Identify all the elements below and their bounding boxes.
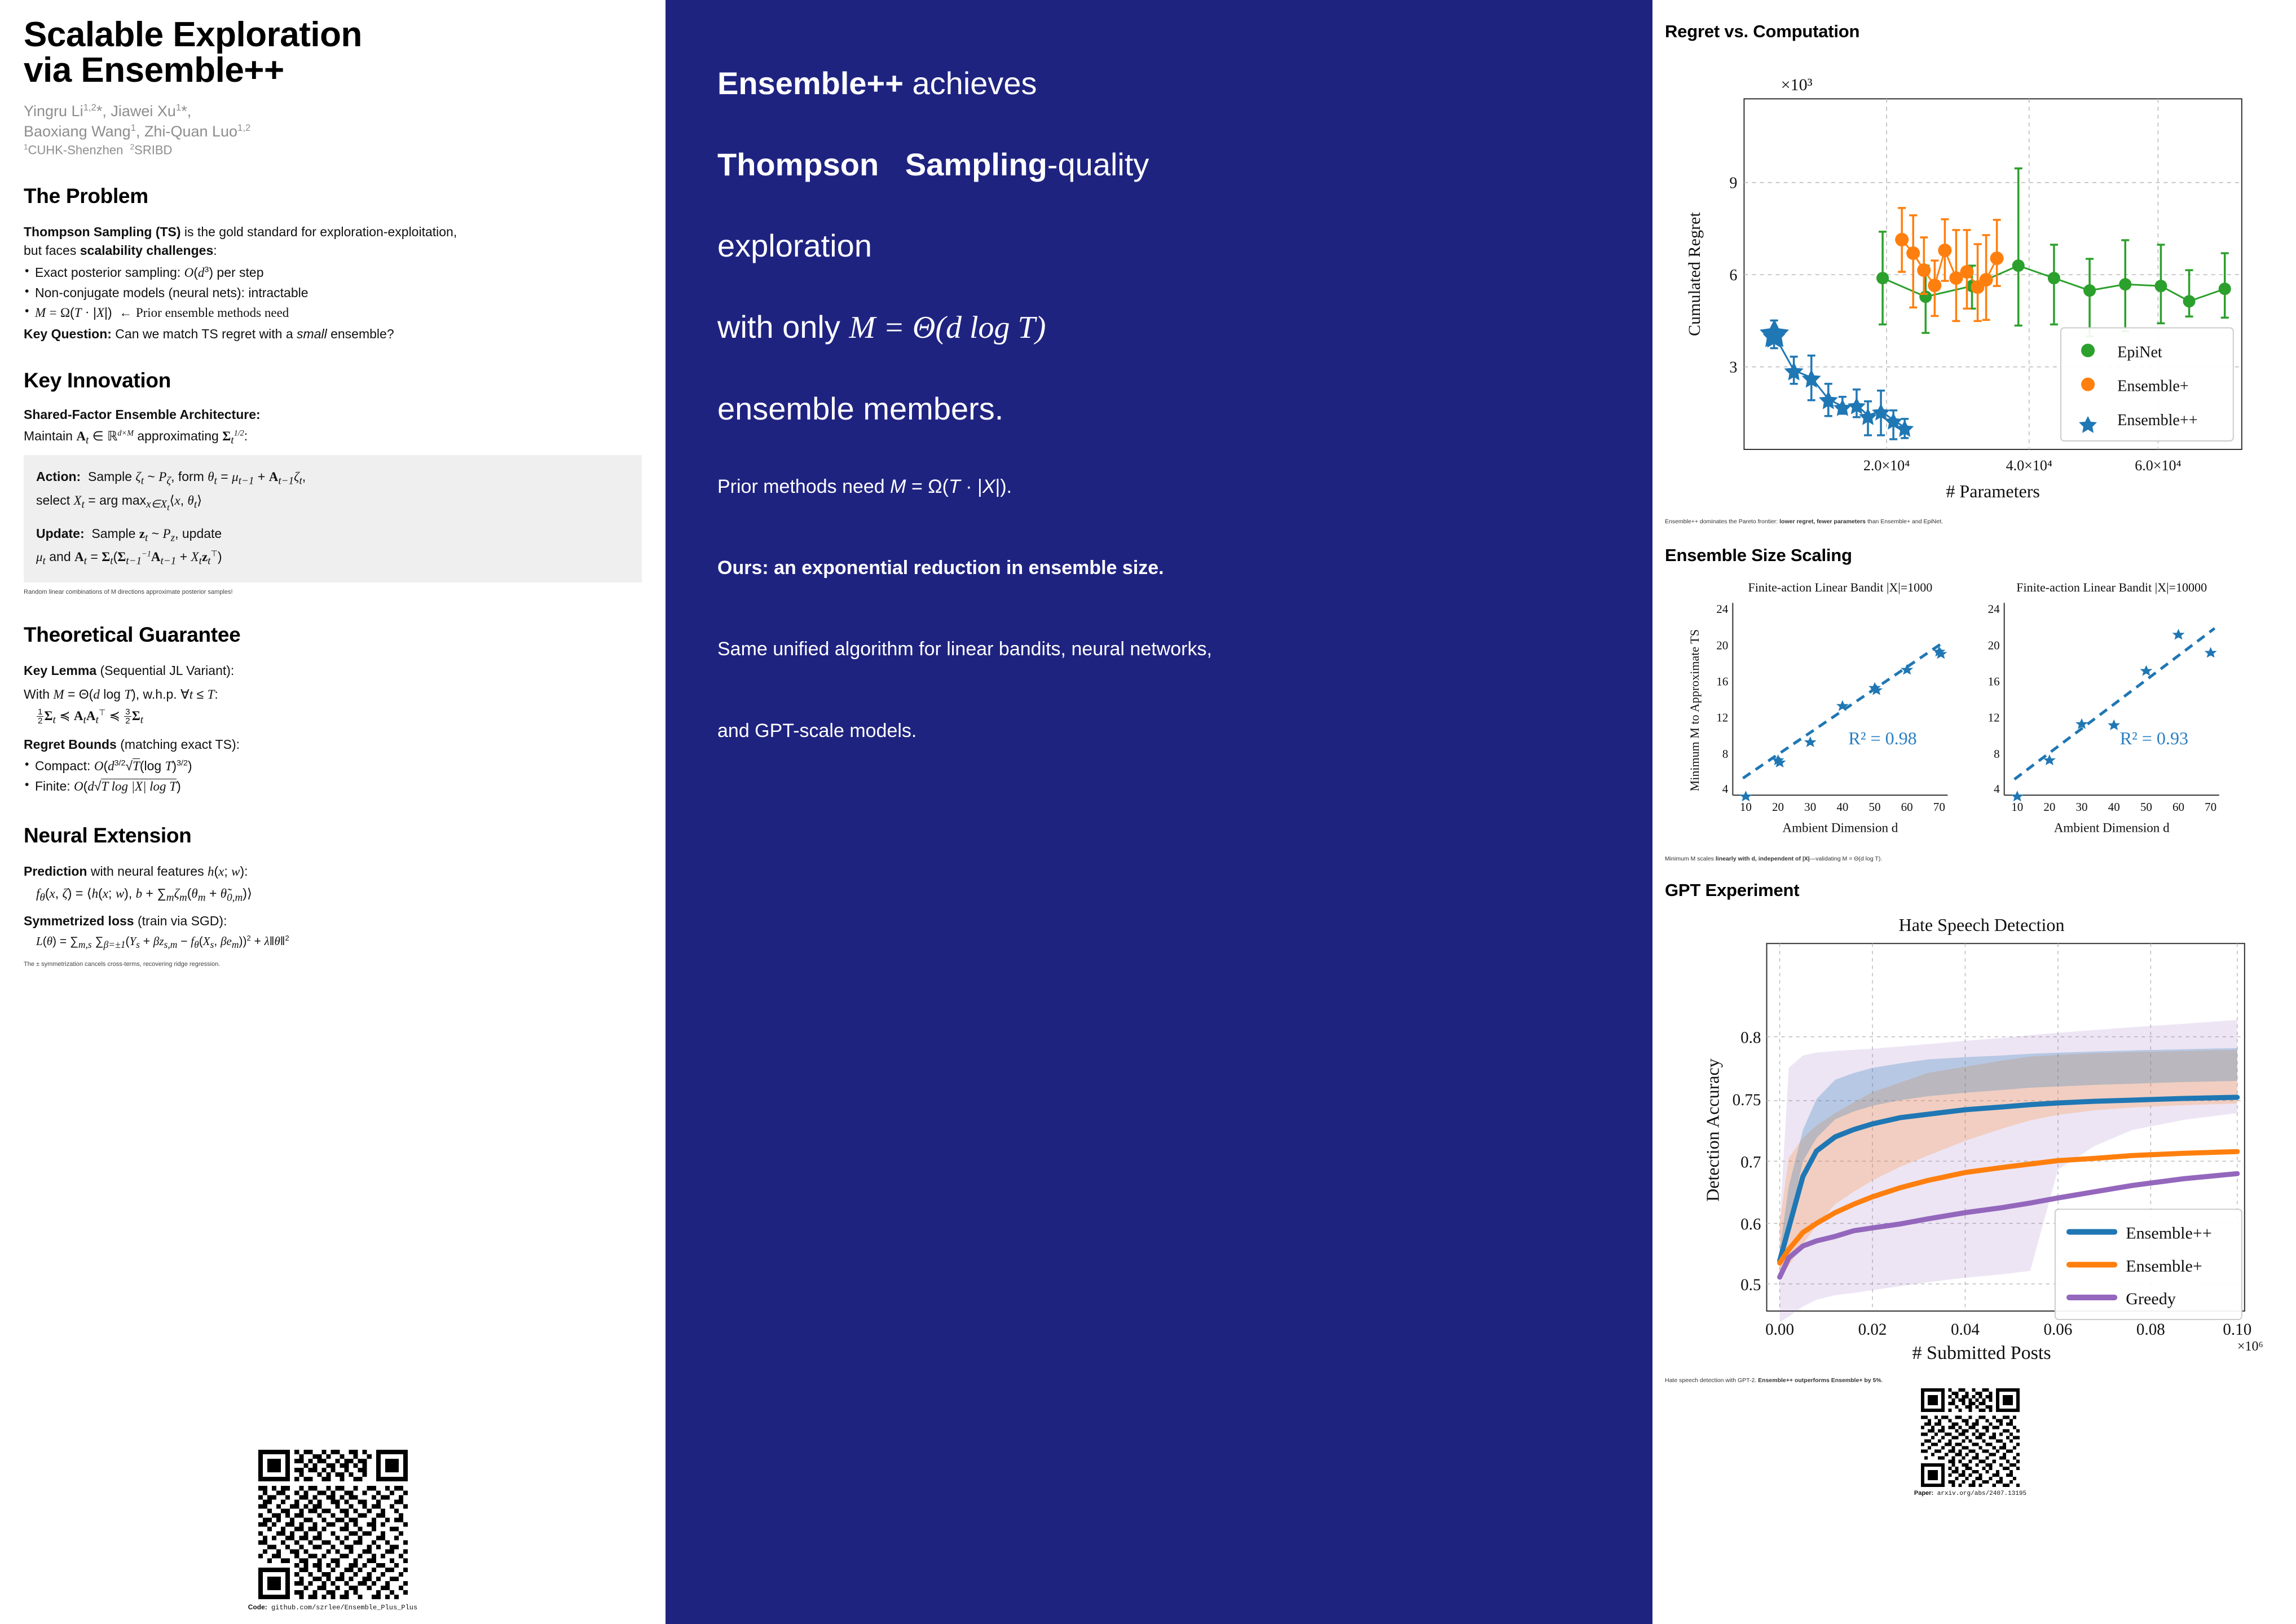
- cap-pre: Minimum M scales: [1665, 855, 1716, 862]
- hero-statement: Ensemble++ achieves Thompson Sampling-qu…: [717, 68, 1601, 425]
- hero-line-2: Thompson Sampling-quality: [717, 149, 1601, 180]
- svg-text:0.10: 0.10: [2223, 1321, 2251, 1339]
- scaling-left-r2: R² = 0.98: [1848, 728, 1916, 748]
- problem-intro-post2: :: [213, 243, 217, 258]
- poster-root: Scalable Exploration via Ensemble++ Ying…: [0, 0, 2296, 1624]
- svg-text:60: 60: [2172, 800, 2184, 814]
- authors-line-2: Baoxiang Wang1, Zhi-Quan Luo1,2: [24, 122, 642, 142]
- svg-text:0.5: 0.5: [1740, 1276, 1761, 1294]
- legend-ensemble-plus: Ensemble+: [2126, 1256, 2202, 1276]
- title-line-1: Scalable Exploration: [24, 17, 642, 52]
- svg-text:9: 9: [1729, 175, 1737, 192]
- prediction-equation: fθ(x, ζ) = ⟨h(x; w), b + ∑mζm(θm + θ̃0,m…: [24, 881, 642, 908]
- cap-bold: lower regret, fewer parameters: [1779, 518, 1866, 525]
- lemma-bold: Key Lemma: [24, 663, 96, 678]
- svg-text:12: 12: [1716, 711, 1728, 725]
- lemma-rest: (Sequential JL Variant):: [96, 663, 234, 678]
- scaling-caption: Minimum M scales linearly with d, indepe…: [1665, 855, 2276, 863]
- regret-rest: (matching exact TS):: [117, 737, 240, 752]
- legend-ensemble-plus: Ensemble+: [2117, 378, 2189, 395]
- key-lemma-label: Key Lemma (Sequential JL Variant):: [24, 661, 642, 680]
- section-heading-neural: Neural Extension: [24, 824, 642, 848]
- svg-text:4: 4: [1994, 782, 2000, 796]
- sub-line-2: Ours: an exponential reduction in ensemb…: [717, 555, 1601, 580]
- list-item: Compact: O(d3/2√T(log T)3/2): [24, 756, 642, 776]
- hero-line-1: Ensemble++ achieves: [717, 68, 1601, 99]
- regret-bullets: Compact: O(d3/2√T(log T)3/2) Finite: O(d…: [24, 756, 642, 797]
- svg-text:20: 20: [2043, 800, 2055, 814]
- svg-text:3: 3: [1729, 359, 1737, 377]
- paper-url: arxiv.org/abs/2407.13195: [1933, 1490, 2026, 1497]
- cap-bold: linearly with d, independent of |X|: [1716, 855, 1810, 862]
- key-question: Key Question: Can we match TS regret wit…: [24, 326, 642, 342]
- loss-rest: (train via SGD):: [134, 913, 227, 928]
- cap-post: .: [1881, 1377, 1883, 1384]
- svg-text:0.00: 0.00: [1765, 1321, 1794, 1339]
- svg-text:16: 16: [1716, 675, 1728, 689]
- algorithm-box: Action: Sample ζt ~ Pζ, form θt = μt−1 +…: [24, 455, 642, 582]
- svg-text:0.6: 0.6: [1740, 1216, 1761, 1234]
- svg-text:0.04: 0.04: [1951, 1321, 1980, 1339]
- svg-text:20: 20: [1716, 638, 1728, 652]
- page-title: Scalable Exploration via Ensemble++: [24, 17, 642, 88]
- regret-xlabel: # Parameters: [1946, 481, 2040, 501]
- svg-text:10: 10: [1740, 800, 1752, 814]
- gpt-xlabel: # Submitted Posts: [1912, 1343, 2051, 1363]
- architecture-label: Shared-Factor Ensemble Architecture:: [24, 407, 642, 422]
- svg-text:0.8: 0.8: [1740, 1029, 1761, 1047]
- svg-text:2.0×10⁴: 2.0×10⁴: [1863, 457, 1910, 474]
- problem-intro-pre2: but faces: [24, 243, 80, 258]
- code-label: Code:: [248, 1603, 267, 1611]
- algorithm-update-2: μt and At = Σt(Σt−1−1At−1 + Xtzt⊤): [36, 546, 629, 570]
- gpt-ylabel: Detection Accuracy: [1702, 1058, 1722, 1202]
- svg-text:20: 20: [1772, 800, 1784, 814]
- section-heading-problem: The Problem: [24, 184, 642, 208]
- gpt-x-scale: ×10⁶: [2237, 1339, 2263, 1354]
- svg-text:4: 4: [1722, 782, 1729, 796]
- svg-text:8: 8: [1994, 747, 2000, 761]
- innovation-footnote: Random linear combinations of M directio…: [24, 588, 642, 596]
- gpt-chart-title: Hate Speech Detection: [1899, 915, 2065, 935]
- list-item: Non-conjugate models (neural nets): intr…: [24, 283, 642, 303]
- list-item: M = Ω(T · |X|) ← Prior ensemble methods …: [24, 303, 642, 323]
- lemma-condition: With M = Θ(d log T), w.h.p. ∀t ≤ T:: [24, 685, 642, 704]
- svg-text:70: 70: [1933, 800, 1945, 814]
- title-line-2: via Ensemble++: [24, 52, 642, 88]
- scaling-left-xlabel: Ambient Dimension d: [1782, 820, 1898, 835]
- algorithm-action-2: select Xt = arg maxx∈Xt⟨x, θt⟩: [36, 490, 629, 515]
- scaling-right-title: Finite-action Linear Bandit |X|=10000: [2016, 580, 2207, 594]
- paper-qr-block: Paper: arxiv.org/abs/2407.13195: [1665, 1388, 2276, 1497]
- scaling-ylabel: Minimum M to Approximate TS: [1687, 629, 1702, 791]
- hate-speech-detection-chart: Hate Speech Detection 0.80.70.60.5 0.75: [1665, 904, 2276, 1373]
- maintain-line: Maintain At ∈ ℝd×M approximating Σt1/2:: [24, 427, 642, 448]
- svg-text:50: 50: [2140, 800, 2152, 814]
- lemma-equation: 12Σt ≼ AtAt⊤ ≼ 32Σt: [24, 704, 642, 731]
- svg-text:4.0×10⁴: 4.0×10⁴: [2006, 457, 2052, 474]
- problem-bullets: Exact posterior sampling: O(d3) per step…: [24, 263, 642, 323]
- svg-text:40: 40: [2108, 800, 2120, 814]
- prediction-label: Prediction with neural features h(x; w):: [24, 862, 642, 881]
- problem-intro-rest: is the gold standard for exploration-exp…: [181, 224, 457, 239]
- hero-line-5: ensemble members.: [717, 393, 1601, 425]
- svg-text:0.7: 0.7: [1740, 1153, 1761, 1171]
- legend-ensemble-plusplus: Ensemble++: [2117, 412, 2197, 429]
- sub-line-4: and GPT-scale models.: [717, 718, 1601, 743]
- regret-bounds-label: Regret Bounds (matching exact TS):: [24, 735, 642, 754]
- sub-line-3: Same unified algorithm for linear bandit…: [717, 637, 1601, 661]
- scaling-right-r2: R² = 0.93: [2120, 728, 2188, 748]
- regret-ylabel: Cumulated Regret: [1685, 212, 1704, 336]
- paper-qr-caption: Paper: arxiv.org/abs/2407.13195: [1914, 1490, 2026, 1497]
- svg-text:24: 24: [1988, 602, 2000, 616]
- svg-text:6: 6: [1729, 267, 1737, 284]
- right-column: Regret vs. Computation ×10³ 963 2.0×10⁴4…: [1652, 0, 2296, 1624]
- center-panel: Ensemble++ achieves Thompson Sampling-qu…: [666, 0, 1652, 1624]
- svg-text:12: 12: [1988, 711, 2000, 725]
- problem-intro: Thompson Sampling (TS) is the gold stand…: [24, 223, 642, 261]
- regret-caption: Ensemble++ dominates the Pareto frontier…: [1665, 518, 2276, 526]
- regret-legend: EpiNet Ensemble+ Ensemble++: [2061, 328, 2233, 441]
- svg-text:50: 50: [1869, 800, 1881, 814]
- svg-text:0.06: 0.06: [2043, 1321, 2072, 1339]
- svg-text:60: 60: [1901, 800, 1913, 814]
- section-heading-innovation: Key Innovation: [24, 369, 642, 392]
- problem-intro-bold: Thompson Sampling (TS): [24, 224, 181, 239]
- regret-bold: Regret Bounds: [24, 737, 117, 752]
- svg-text:16: 16: [1988, 675, 2000, 689]
- author-list: Yingru Li1,2*, Jiawei Xu1*, Baoxiang Wan…: [24, 101, 642, 141]
- problem-intro-bold2: scalability challenges: [80, 243, 214, 258]
- loss-bold: Symmetrized loss: [24, 913, 134, 928]
- gpt-legend: Ensemble++ Ensemble+ Greedy: [2055, 1209, 2242, 1319]
- svg-text:0.02: 0.02: [1858, 1321, 1887, 1339]
- neural-footnote: The ± symmetrization cancels cross-terms…: [24, 960, 642, 968]
- list-item: Finite: O(d√T log |X| log T): [24, 776, 642, 797]
- ensemble-size-scaling-chart: Minimum M to Approximate TS Finite-actio…: [1665, 569, 2276, 851]
- cap-pre: Hate speech detection with GPT-2.: [1665, 1377, 1758, 1384]
- cap-post: —validating M = Θ(d log T).: [1810, 855, 1882, 862]
- cap-pre: Ensemble++ dominates the Pareto frontier…: [1665, 518, 1779, 525]
- algorithm-update: Update: Sample zt ~ Pz, update: [36, 523, 629, 547]
- svg-text:30: 30: [1804, 800, 1816, 814]
- paper-label: Paper:: [1914, 1490, 1933, 1497]
- hero-line-3: exploration: [717, 230, 1601, 262]
- legend-epinet: EpiNet: [2117, 344, 2162, 361]
- code-qr-block: Code: github.com/szrlee/Ensemble_Plus_Pl…: [0, 1450, 666, 1612]
- section-heading-theory: Theoretical Guarantee: [24, 623, 642, 647]
- hero-line-4: with only M = Θ(d log T): [717, 311, 1601, 343]
- legend-greedy: Greedy: [2126, 1289, 2176, 1308]
- svg-text:6.0×10⁴: 6.0×10⁴: [2135, 457, 2181, 474]
- svg-text:24: 24: [1716, 602, 1729, 616]
- algorithm-action: Action: Sample ζt ~ Pζ, form θt = μt−1 +…: [36, 466, 629, 490]
- gpt-caption: Hate speech detection with GPT-2. Ensemb…: [1665, 1377, 2276, 1385]
- affiliations: 1CUHK-Shenzhen 2SRIBD: [24, 143, 642, 157]
- code-qr-caption: Code: github.com/szrlee/Ensemble_Plus_Pl…: [248, 1603, 417, 1612]
- scaling-right-xlabel: Ambient Dimension d: [2054, 820, 2170, 835]
- sub-line-1: Prior methods need M = Ω(T · |X|).: [717, 474, 1601, 499]
- svg-text:10: 10: [2011, 800, 2023, 814]
- svg-text:40: 40: [1836, 800, 1848, 814]
- svg-text:8: 8: [1722, 747, 1729, 761]
- code-qr-code[interactable]: [258, 1450, 408, 1599]
- svg-text:×10³: ×10³: [1781, 75, 1813, 94]
- cap-bold: Ensemble++ outperforms Ensemble+ by 5%: [1758, 1377, 1881, 1384]
- scaling-left-title: Finite-action Linear Bandit |X|=1000: [1748, 580, 1932, 594]
- paper-qr-code[interactable]: [1921, 1388, 2020, 1487]
- list-item: Exact posterior sampling: O(d3) per step: [24, 263, 642, 283]
- cap-post: than Ensemble+ and EpiNet.: [1866, 518, 1943, 525]
- prediction-bold: Prediction: [24, 864, 87, 879]
- code-url: github.com/szrlee/Ensemble_Plus_Plus: [267, 1604, 417, 1612]
- svg-text:20: 20: [1988, 638, 2000, 652]
- loss-equation: L(θ) = ∑m,s ∑β=±1(Ys + βzs,m − fθ(Xs, βe…: [24, 930, 642, 954]
- hero-subtext: Prior methods need M = Ω(T · |X|). Ours:…: [717, 474, 1601, 743]
- svg-text:0.75: 0.75: [1733, 1091, 1761, 1109]
- section-heading-regret: Regret vs. Computation: [1665, 21, 2276, 42]
- svg-text:30: 30: [2076, 800, 2088, 814]
- svg-text:70: 70: [2205, 800, 2216, 814]
- regret-vs-computation-chart: ×10³ 963 2.0×10⁴4.0×10⁴6.0×10⁴ # Paramet…: [1665, 45, 2276, 514]
- authors-line-1: Yingru Li1,2*, Jiawei Xu1*,: [24, 101, 642, 121]
- left-column: Scalable Exploration via Ensemble++ Ying…: [0, 0, 666, 1624]
- section-heading-scaling: Ensemble Size Scaling: [1665, 545, 2276, 566]
- loss-label: Symmetrized loss (train via SGD):: [24, 912, 642, 930]
- section-heading-gpt: GPT Experiment: [1665, 880, 2276, 901]
- key-question-label: Key Question:: [24, 326, 112, 341]
- legend-ensemble-plusplus: Ensemble++: [2126, 1224, 2212, 1243]
- svg-text:0.08: 0.08: [2136, 1321, 2165, 1339]
